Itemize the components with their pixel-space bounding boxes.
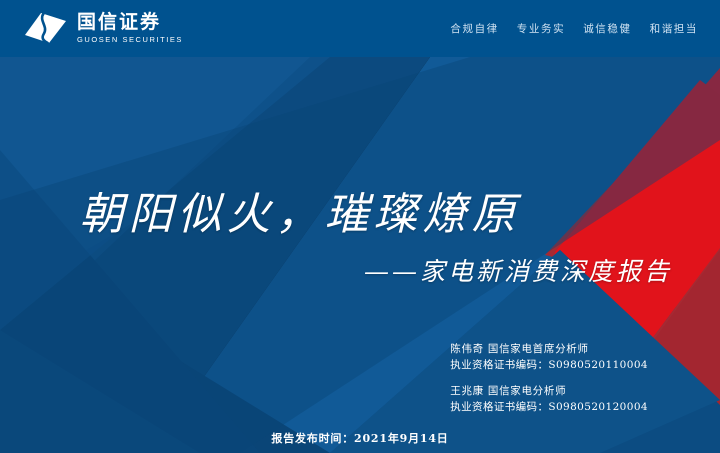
analyst-certificate: 执业资格证书编码：S0980520120004 [450, 399, 648, 415]
brand-name-en: GUOSEN SECURITIES [77, 35, 183, 44]
analyst-name-role: 王兆康 国信家电分析师 [450, 383, 648, 399]
analyst-entry: 王兆康 国信家电分析师 执业资格证书编码：S0980520120004 [450, 383, 648, 416]
slogan-4: 和谐担当 [650, 21, 698, 36]
page-subtitle: ——家电新消费深度报告 [0, 252, 672, 288]
brand-logo-text: 国信证券 GUOSEN SECURITIES [77, 13, 183, 44]
header-slogans: 合规自律 专业务实 诚信稳健 和谐担当 [450, 21, 698, 36]
slogan-1: 合规自律 [450, 21, 498, 36]
report-cover-slide: 国信证券 GUOSEN SECURITIES 合规自律 专业务实 诚信稳健 和谐… [0, 0, 720, 453]
guosen-diamond-logo-icon [22, 10, 68, 48]
brand-logo[interactable]: 国信证券 GUOSEN SECURITIES [22, 10, 183, 48]
page-title: 朝阳似火，璀璨燎原 [0, 178, 600, 242]
publish-date: 报告发布时间：2021年9月14日 [0, 430, 720, 446]
analyst-name-role: 陈伟奇 国信家电首席分析师 [450, 341, 648, 357]
header-bar: 国信证券 GUOSEN SECURITIES 合规自律 专业务实 诚信稳健 和谐… [0, 0, 720, 57]
brand-name-cn: 国信证券 [77, 13, 183, 33]
slogan-2: 专业务实 [517, 21, 565, 36]
analyst-certificate: 执业资格证书编码：S0980520110004 [450, 357, 648, 373]
slogan-3: 诚信稳健 [583, 21, 631, 36]
analyst-entry: 陈伟奇 国信家电首席分析师 执业资格证书编码：S0980520110004 [450, 341, 648, 374]
analyst-credits: 陈伟奇 国信家电首席分析师 执业资格证书编码：S0980520110004 王兆… [450, 341, 648, 424]
